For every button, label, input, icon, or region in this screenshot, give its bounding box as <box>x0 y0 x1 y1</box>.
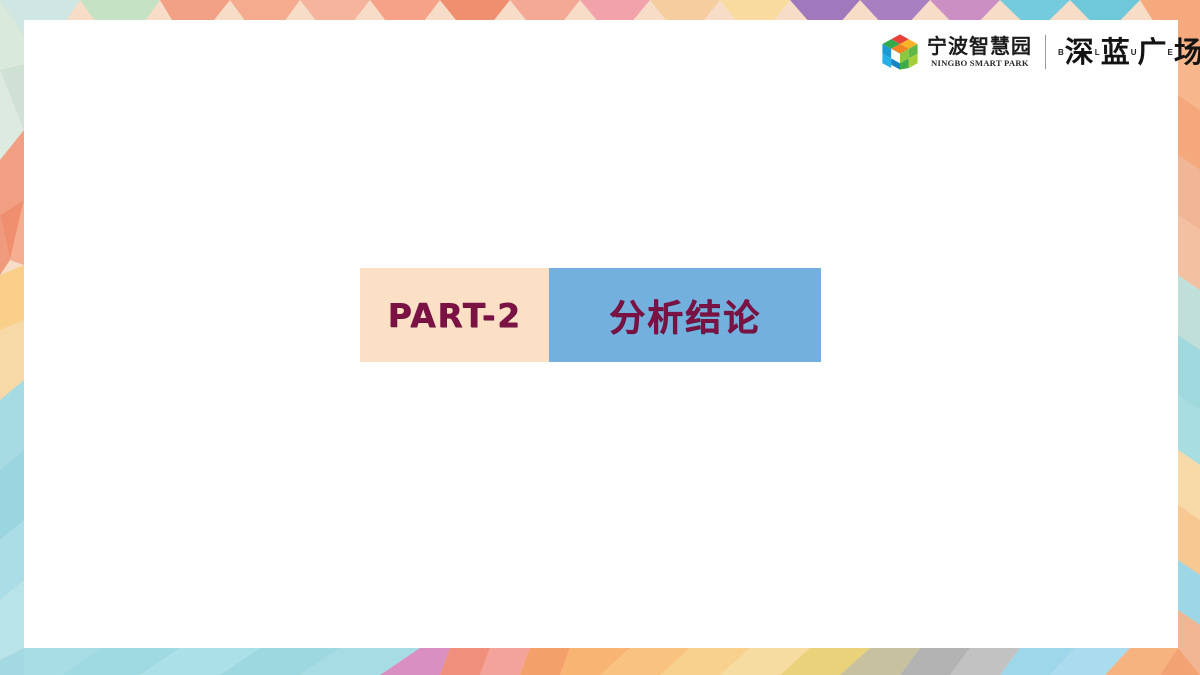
brand-char-guang: 广 <box>1137 38 1166 67</box>
section-title-group: PART-2 分析结论 <box>360 268 821 362</box>
section-name-label: 分析结论 <box>609 289 761 341</box>
logo-divider <box>1045 35 1046 69</box>
part-number-label: PART-2 <box>388 296 522 335</box>
logo-wordmark: 宁波智慧园 NINGBO SMART PARK <box>927 36 1032 68</box>
brand-letter-u: U <box>1131 48 1137 57</box>
brand-logo-lockup: 宁波智慧园 NINGBO SMART PARK B 深 L 蓝 U 广 E 场 <box>880 28 1200 76</box>
brand-char-chang: 场 <box>1174 38 1200 67</box>
logo-english-name: NINGBO SMART PARK <box>931 58 1029 68</box>
brand-letter-b: B <box>1058 48 1064 57</box>
logo-chinese-name: 宁波智慧园 <box>927 36 1032 57</box>
brand-char-shen: 深 <box>1065 38 1094 67</box>
ningbo-smart-park-cube-icon <box>880 32 920 72</box>
slide-canvas: 宁波智慧园 NINGBO SMART PARK B 深 L 蓝 U 广 E 场 … <box>0 0 1200 675</box>
section-name-block: 分析结论 <box>549 268 821 362</box>
blue-plaza-wordmark: B 深 L 蓝 U 广 E 场 <box>1057 38 1200 67</box>
brand-letter-l: L <box>1095 48 1100 57</box>
part-number-block: PART-2 <box>360 268 549 362</box>
brand-letter-e: E <box>1168 48 1173 57</box>
brand-char-lan: 蓝 <box>1101 38 1130 67</box>
